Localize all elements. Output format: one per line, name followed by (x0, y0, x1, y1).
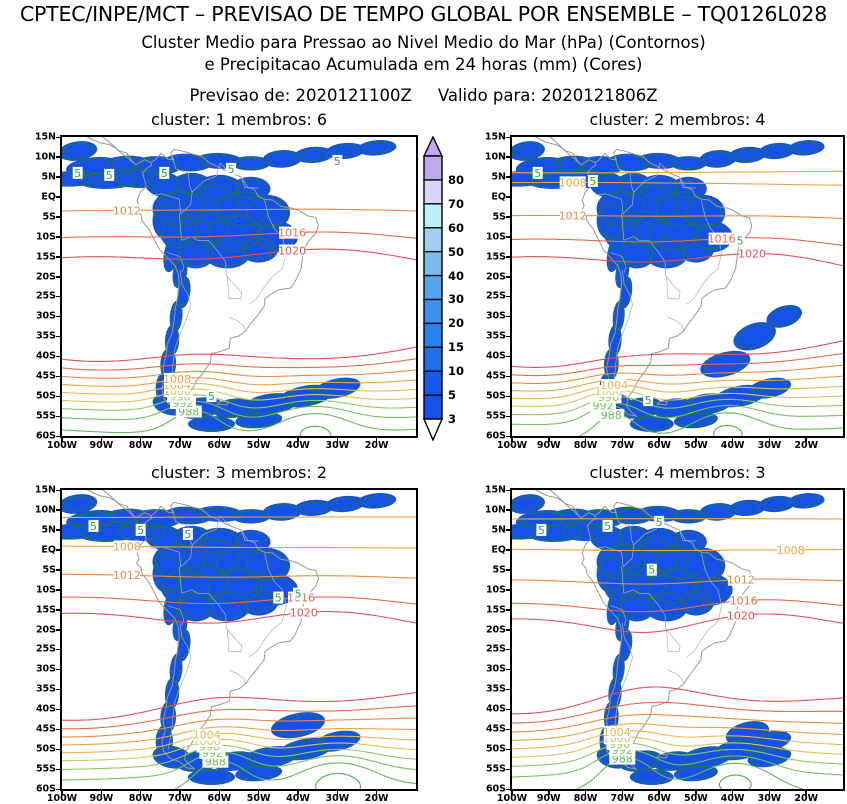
x-axis-tick-mark (140, 790, 142, 795)
svg-text:5: 5 (90, 520, 97, 533)
y-axis-tick-mark (506, 569, 511, 571)
x-axis-tick-mark (297, 790, 299, 795)
y-axis-tick-mark (506, 769, 511, 771)
y-axis-tick-mark (56, 256, 61, 258)
y-axis-tick-mark (506, 276, 511, 278)
colorbar-label-30: 30 (448, 292, 464, 306)
svg-text:1020: 1020 (290, 607, 318, 620)
y-axis-tick-mark (506, 549, 511, 551)
svg-text:5: 5 (648, 564, 655, 577)
x-axis-tick-mark (337, 437, 339, 442)
panel-title-cluster-2: cluster: 2 membros: 4 (510, 110, 845, 129)
colorbar-label-40: 40 (448, 269, 464, 283)
svg-text:5: 5 (534, 167, 541, 180)
x-axis-tick-mark (695, 437, 697, 442)
svg-text:1004: 1004 (193, 729, 221, 742)
x-axis-tick-mark (337, 790, 339, 795)
y-axis-tick-mark (506, 529, 511, 531)
y-axis-tick-mark (506, 256, 511, 258)
y-axis-tick-mark (56, 709, 61, 711)
svg-text:5: 5 (74, 167, 81, 180)
precipitation-colorbar: 35101520304050607080 (418, 136, 494, 441)
y-axis-tick-EQ: EQ (24, 191, 56, 202)
y-axis-tick-mark (506, 396, 511, 398)
y-axis-tick-15N: 15N (474, 485, 506, 496)
colorbar-label-70: 70 (448, 197, 464, 211)
map-plot-cluster-1: 988992996100010041008101210161020555555 (62, 137, 416, 436)
y-axis-tick-mark (56, 316, 61, 318)
svg-text:1012: 1012 (559, 210, 587, 223)
x-axis-tick-mark (297, 437, 299, 442)
y-axis-tick-mark (56, 276, 61, 278)
x-axis-tick-mark (376, 437, 378, 442)
y-axis-tick-5S: 5S (24, 564, 56, 575)
y-axis-tick-mark (56, 529, 61, 531)
colorbar-label-50: 50 (448, 245, 464, 259)
y-axis-tick-10S: 10S (474, 584, 506, 595)
colorbar-label-10: 10 (448, 364, 464, 378)
svg-text:1012: 1012 (727, 574, 755, 587)
svg-text:1004: 1004 (600, 379, 628, 392)
y-axis-tick-mark (506, 156, 511, 158)
svg-text:1004: 1004 (603, 726, 631, 739)
y-axis-tick-20S: 20S (24, 271, 56, 282)
y-axis-tick-mark (56, 789, 61, 791)
y-axis-tick-mark (506, 216, 511, 218)
y-axis-tick-10N: 10N (24, 151, 56, 162)
svg-text:5: 5 (295, 588, 302, 601)
y-axis-tick-mark (506, 296, 511, 298)
y-axis-tick-mark (56, 176, 61, 178)
x-axis-tick-mark (511, 437, 513, 442)
panel-title-cluster-4: cluster: 4 membros: 3 (510, 463, 845, 482)
map-plot-cluster-4: 9889929961000100410081012101610205555 (512, 490, 843, 789)
y-axis-tick-15N: 15N (24, 485, 56, 496)
panel-title-cluster-1: cluster: 1 membros: 6 (60, 110, 418, 129)
y-axis-tick-35S: 35S (24, 684, 56, 695)
y-axis-tick-50S: 50S (24, 744, 56, 755)
svg-text:5: 5 (137, 524, 144, 537)
y-axis-tick-mark (506, 137, 511, 139)
svg-text:5: 5 (589, 175, 596, 188)
x-axis-tick-mark (805, 790, 807, 795)
svg-text:5: 5 (184, 528, 191, 541)
y-axis-tick-mark (506, 316, 511, 318)
y-axis-tick-mark (56, 396, 61, 398)
y-axis-tick-10S: 10S (24, 584, 56, 595)
y-axis-tick-15S: 15S (474, 604, 506, 615)
colorbar-label-3: 3 (448, 412, 456, 426)
svg-text:1020: 1020 (278, 245, 306, 258)
svg-text:5: 5 (334, 155, 341, 168)
y-axis-tick-55S: 55S (24, 411, 56, 422)
svg-text:1012: 1012 (113, 204, 141, 217)
y-axis-tick-mark (506, 236, 511, 238)
y-axis-tick-15S: 15S (24, 251, 56, 262)
y-axis-tick-mark (56, 509, 61, 511)
y-axis-tick-mark (506, 490, 511, 492)
x-axis-tick-mark (622, 437, 624, 442)
y-axis-tick-45S: 45S (24, 724, 56, 735)
page-title: CPTEC/INPE/MCT – PREVISAO DE TEMPO GLOBA… (0, 2, 847, 26)
colorbar-label-15: 15 (448, 340, 464, 354)
x-axis-tick-mark (101, 437, 103, 442)
y-axis-tick-45S: 45S (24, 371, 56, 382)
x-axis-tick-mark (769, 790, 771, 795)
svg-text:5: 5 (106, 169, 113, 182)
x-axis-tick-mark (258, 437, 260, 442)
y-axis-tick-mark (56, 356, 61, 358)
y-axis-tick-50S: 50S (474, 744, 506, 755)
y-axis-tick-mark (506, 709, 511, 711)
svg-text:5: 5 (208, 390, 215, 403)
y-axis-tick-mark (56, 609, 61, 611)
y-axis-tick-55S: 55S (24, 764, 56, 775)
y-axis-tick-mark (56, 729, 61, 731)
x-axis-tick-mark (61, 790, 63, 795)
y-axis-tick-10N: 10N (474, 504, 506, 515)
y-axis-tick-mark (56, 436, 61, 438)
x-axis-tick-mark (61, 437, 63, 442)
x-axis-tick-mark (140, 437, 142, 442)
y-axis-tick-mark (56, 376, 61, 378)
map-plot-cluster-2: 9889929961000100410081012101610205555 (512, 137, 843, 436)
y-axis-tick-mark (56, 669, 61, 671)
y-axis-tick-mark (506, 789, 511, 791)
colorbar-label-5: 5 (448, 388, 456, 402)
y-axis-tick-40S: 40S (474, 704, 506, 715)
y-axis-tick-mark (506, 689, 511, 691)
svg-text:5: 5 (275, 592, 282, 605)
x-axis-tick-mark (548, 437, 550, 442)
y-axis-tick-35S: 35S (474, 684, 506, 695)
y-axis-tick-mark (506, 589, 511, 591)
y-axis-tick-mark (506, 376, 511, 378)
map-panel-cluster-1[interactable]: 988992996100010041008101210161020555555 (60, 135, 418, 438)
forecast-init-label: Previsao de: 2020121100Z (189, 86, 411, 105)
y-axis-tick-mark (56, 296, 61, 298)
y-axis-tick-EQ: EQ (24, 544, 56, 555)
y-axis-tick-mark (56, 216, 61, 218)
y-axis-tick-5N: 5N (24, 171, 56, 182)
y-axis-tick-mark (506, 336, 511, 338)
y-axis-tick-mark (56, 769, 61, 771)
x-axis-tick-mark (219, 790, 221, 795)
y-axis-tick-mark (506, 176, 511, 178)
svg-text:1012: 1012 (113, 569, 141, 582)
map-panel-cluster-3[interactable]: 98899299610001004100810121016102055555 (60, 488, 418, 791)
y-axis-tick-mark (506, 649, 511, 651)
svg-text:1020: 1020 (738, 248, 766, 261)
x-axis-tick-mark (511, 790, 513, 795)
x-axis-tick-mark (219, 437, 221, 442)
y-axis-tick-20S: 20S (474, 624, 506, 635)
colorbar-label-80: 80 (448, 173, 464, 187)
svg-text:1016: 1016 (278, 227, 306, 240)
x-axis-tick-mark (179, 437, 181, 442)
x-axis-tick-mark (258, 790, 260, 795)
y-axis-tick-mark (506, 669, 511, 671)
x-axis-tick-mark (101, 790, 103, 795)
y-axis-tick-25S: 25S (24, 291, 56, 302)
svg-text:5: 5 (645, 394, 652, 407)
x-axis-tick-mark (732, 790, 734, 795)
map-plot-cluster-3: 98899299610001004100810121016102055555 (62, 490, 416, 789)
y-axis-tick-mark (56, 689, 61, 691)
y-axis-tick-mark (56, 236, 61, 238)
colorbar-label-60: 60 (448, 221, 464, 235)
y-axis-tick-mark (56, 629, 61, 631)
forecast-time-row: Previsao de: 2020121100ZValido para: 202… (0, 86, 847, 105)
x-axis-tick-mark (376, 790, 378, 795)
svg-text:1008: 1008 (559, 176, 587, 189)
svg-text:1016: 1016 (708, 233, 736, 246)
x-axis-tick-mark (695, 790, 697, 795)
map-panel-cluster-2[interactable]: 9889929961000100410081012101610205555 (510, 135, 845, 438)
y-axis-tick-30S: 30S (24, 664, 56, 675)
x-axis-tick-mark (805, 437, 807, 442)
y-axis-tick-mark (506, 629, 511, 631)
svg-text:5: 5 (538, 524, 545, 537)
y-axis-tick-40S: 40S (24, 351, 56, 362)
y-axis-tick-35S: 35S (24, 331, 56, 342)
y-axis-tick-mark (506, 729, 511, 731)
y-axis-tick-EQ: EQ (474, 544, 506, 555)
y-axis-tick-mark (506, 436, 511, 438)
y-axis-tick-25S: 25S (474, 644, 506, 655)
y-axis-tick-20S: 20S (24, 624, 56, 635)
svg-text:5: 5 (604, 520, 611, 533)
y-axis-tick-mark (56, 649, 61, 651)
x-axis-tick-mark (658, 437, 660, 442)
y-axis-tick-5S: 5S (24, 211, 56, 222)
x-axis-tick-mark (548, 790, 550, 795)
x-axis-tick-mark (658, 790, 660, 795)
y-axis-tick-mark (506, 509, 511, 511)
colorbar-label-20: 20 (448, 316, 464, 330)
svg-text:1008: 1008 (113, 541, 141, 554)
y-axis-tick-5N: 5N (24, 524, 56, 535)
forecast-valid-label: Valido para: 2020121806Z (438, 86, 658, 105)
y-axis-tick-5S: 5S (474, 564, 506, 575)
y-axis-tick-15N: 15N (24, 132, 56, 143)
y-axis-tick-mark (56, 749, 61, 751)
x-axis-tick-mark (585, 790, 587, 795)
y-axis-tick-mark (56, 569, 61, 571)
svg-text:1016: 1016 (730, 595, 758, 608)
y-axis-tick-mark (56, 549, 61, 551)
y-axis-tick-5N: 5N (474, 524, 506, 535)
y-axis-tick-10S: 10S (24, 231, 56, 242)
svg-text:1008: 1008 (777, 544, 805, 557)
y-axis-tick-mark (506, 609, 511, 611)
y-axis-tick-mark (56, 336, 61, 338)
x-axis-tick-mark (585, 437, 587, 442)
x-axis-tick-mark (732, 437, 734, 442)
y-axis-tick-45S: 45S (474, 724, 506, 735)
y-axis-tick-mark (56, 589, 61, 591)
y-axis-tick-55S: 55S (474, 764, 506, 775)
y-axis-tick-mark (506, 356, 511, 358)
y-axis-tick-25S: 25S (24, 644, 56, 655)
svg-text:5: 5 (737, 235, 744, 248)
panel-title-cluster-3: cluster: 3 membros: 2 (60, 463, 418, 482)
y-axis-tick-30S: 30S (474, 664, 506, 675)
x-axis-tick-mark (622, 790, 624, 795)
svg-text:5: 5 (161, 167, 168, 180)
y-axis-tick-30S: 30S (24, 311, 56, 322)
y-axis-tick-50S: 50S (24, 391, 56, 402)
svg-text:1020: 1020 (727, 609, 755, 622)
y-axis-tick-mark (56, 196, 61, 198)
subtitle-line-1: Cluster Medio para Pressao ao Nivel Medi… (0, 33, 847, 52)
y-axis-tick-40S: 40S (24, 704, 56, 715)
subtitle-line-2: e Precipitacao Acumulada em 24 horas (mm… (0, 55, 847, 74)
map-panel-cluster-4[interactable]: 9889929961000100410081012101610205555 (510, 488, 845, 791)
y-axis-tick-mark (506, 416, 511, 418)
y-axis-tick-mark (506, 196, 511, 198)
y-axis-tick-mark (506, 749, 511, 751)
y-axis-tick-10N: 10N (24, 504, 56, 515)
svg-text:5: 5 (656, 516, 663, 529)
x-axis-tick-mark (179, 790, 181, 795)
svg-text:5: 5 (228, 163, 235, 176)
y-axis-tick-mark (56, 490, 61, 492)
y-axis-tick-mark (56, 416, 61, 418)
x-axis-tick-mark (769, 437, 771, 442)
svg-text:1008: 1008 (163, 373, 191, 386)
y-axis-tick-15S: 15S (24, 604, 56, 615)
y-axis-tick-mark (56, 156, 61, 158)
y-axis-tick-mark (56, 137, 61, 139)
